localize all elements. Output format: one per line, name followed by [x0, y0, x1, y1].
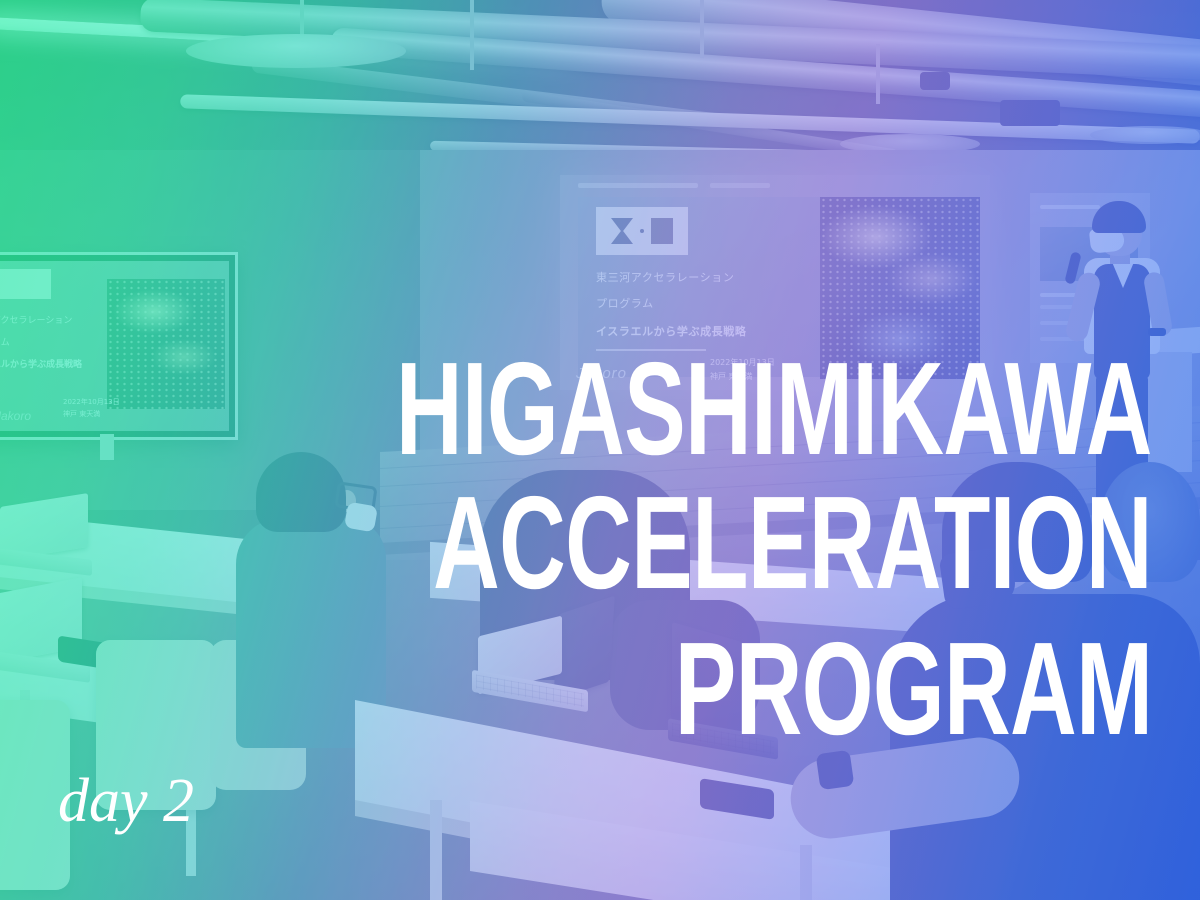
event-banner: 東三河アクセラレーション プログラム イスラエルから学ぶ成長戦略 2022年10…: [0, 0, 1200, 900]
duotone-lift-layer: [0, 0, 1200, 900]
